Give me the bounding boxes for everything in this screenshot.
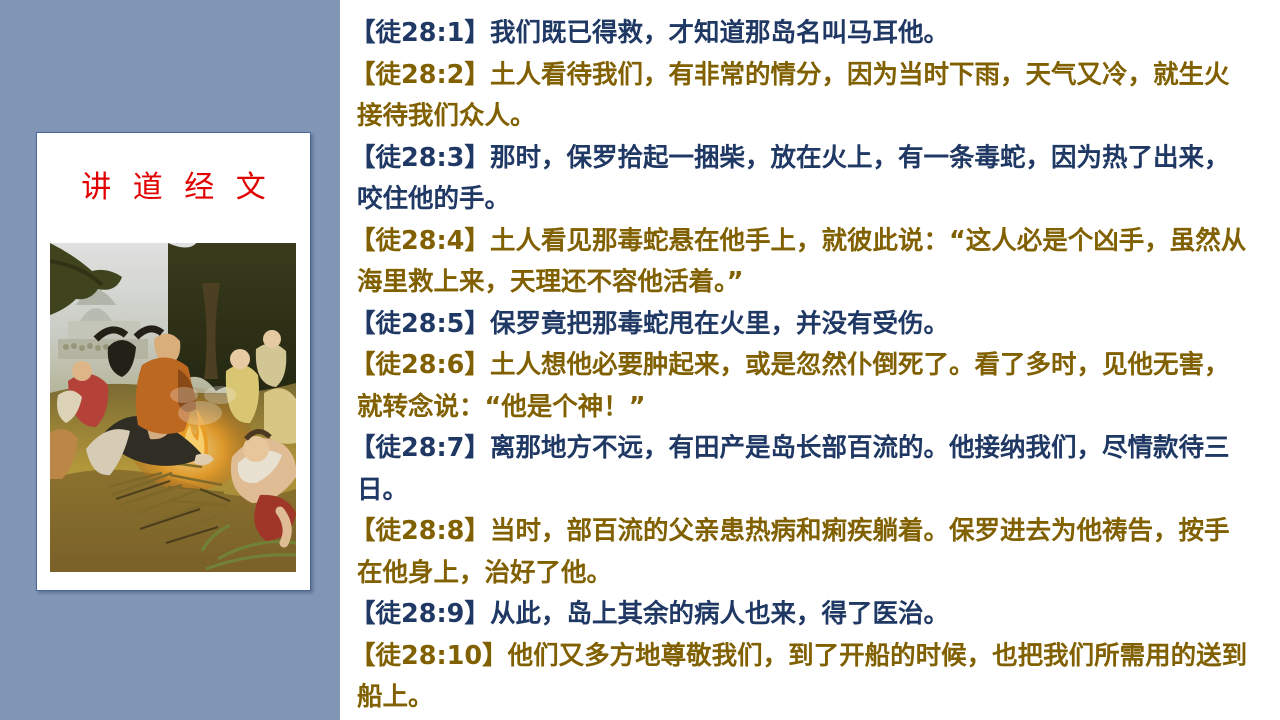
verse-reference: 【徒28:8】 (350, 516, 490, 546)
scripture-verse: 【徒28:1】我们既已得救，才知道那岛名叫马耳他。 (340, 13, 1280, 55)
verse-text: 我们既已得救，才知道那岛名叫马耳他。 (490, 18, 949, 48)
paul-shipwreck-malta-painting (50, 243, 296, 572)
scripture-verse: 【徒28:2】土人看待我们，有非常的情分，因为当时下雨，天气又冷，就生火接待我们… (340, 55, 1280, 138)
verse-reference: 【徒28:1】 (350, 18, 490, 48)
verse-reference: 【徒28:7】 (350, 433, 490, 463)
verse-reference: 【徒28:5】 (350, 309, 490, 339)
verse-reference: 【徒28:9】 (350, 599, 490, 629)
verse-text: 从此，岛上其余的病人也来，得了医治。 (490, 599, 949, 629)
picture-card: 讲 道 经 文 (36, 132, 311, 591)
scripture-verse: 【徒28:9】从此，岛上其余的病人也来，得了医治。 (340, 594, 1280, 636)
verse-reference: 【徒28:6】 (350, 350, 490, 380)
scripture-verse: 【徒28:6】土人想他必要肿起来，或是忽然仆倒死了。看了多时，见他无害，就转念说… (340, 345, 1280, 428)
verse-reference: 【徒28:2】 (350, 60, 490, 90)
scripture-verse-list: 【徒28:1】我们既已得救，才知道那岛名叫马耳他。【徒28:2】土人看待我们，有… (340, 13, 1280, 719)
picture-card-title: 讲 道 经 文 (37, 171, 310, 204)
scripture-text-panel: 【徒28:1】我们既已得救，才知道那岛名叫马耳他。【徒28:2】土人看待我们，有… (340, 0, 1280, 720)
verse-reference: 【徒28:3】 (350, 143, 490, 173)
verse-reference: 【徒28:10】 (350, 641, 508, 671)
scripture-verse: 【徒28:10】他们又多方地尊敬我们，到了开船的时候，也把我们所需用的送到船上。 (340, 636, 1280, 719)
verse-reference: 【徒28:4】 (350, 226, 490, 256)
scripture-verse: 【徒28:8】当时，部百流的父亲患热病和痢疾躺着。保罗进去为他祷告，按手在他身上… (340, 511, 1280, 594)
presentation-slide: 讲 道 经 文 (0, 0, 1280, 720)
scripture-verse: 【徒28:3】那时，保罗拾起一捆柴，放在火上，有一条毒蛇，因为热了出来，咬住他的… (340, 138, 1280, 221)
scripture-verse: 【徒28:7】离那地方不远，有田产是岛长部百流的。他接纳我们，尽情款待三日。 (340, 428, 1280, 511)
verse-text: 土人看见那毒蛇悬在他手上，就彼此说：“这人必是个凶手，虽然从海里救上来，天理还不… (357, 226, 1246, 298)
scripture-verse: 【徒28:5】保罗竟把那毒蛇甩在火里，并没有受伤。 (340, 304, 1280, 346)
verse-text: 保罗竟把那毒蛇甩在火里，并没有受伤。 (490, 309, 949, 339)
scripture-verse: 【徒28:4】土人看见那毒蛇悬在他手上，就彼此说：“这人必是个凶手，虽然从海里救… (340, 221, 1280, 304)
